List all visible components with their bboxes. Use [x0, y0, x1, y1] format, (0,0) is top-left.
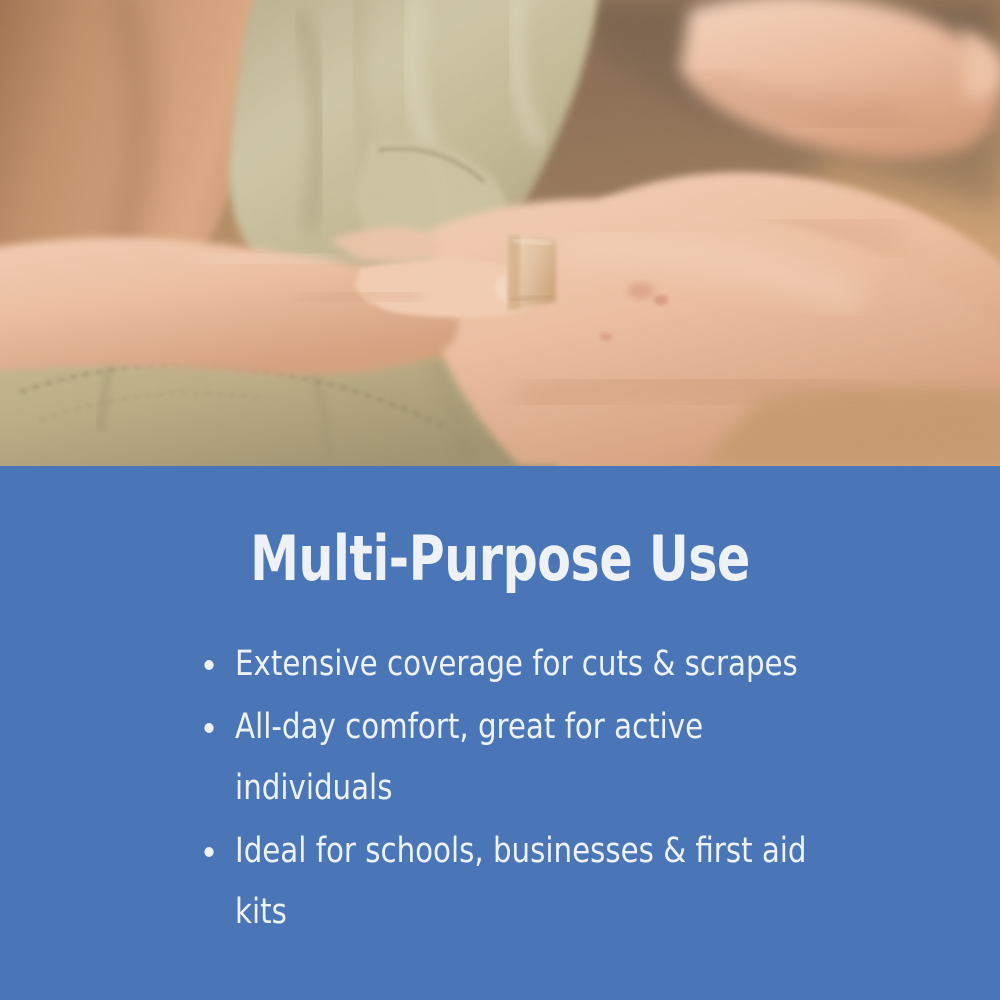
feature-panel: Multi-Purpose Use Extensive coverage for…	[0, 466, 1000, 1000]
product-feature-card: Multi-Purpose Use Extensive coverage for…	[0, 0, 1000, 1000]
photo-illustration	[0, 0, 1000, 466]
list-item-label: All-day comfort, great for active indivi…	[235, 697, 830, 819]
bullet-dot-icon	[204, 660, 213, 670]
list-item: Extensive coverage for cuts & scrapes	[196, 634, 847, 695]
bullet-dot-icon	[204, 847, 213, 857]
bullet-dot-icon	[204, 723, 213, 733]
list-item-label: Extensive coverage for cuts & scrapes	[235, 634, 830, 695]
page-title: Multi-Purpose Use	[60, 526, 940, 591]
feature-list: Extensive coverage for cuts & scrapes Al…	[196, 634, 896, 945]
list-item: Ideal for schools, businesses & first ai…	[196, 821, 847, 943]
list-item: All-day comfort, great for active indivi…	[196, 697, 847, 819]
list-item-label: Ideal for schools, businesses & first ai…	[235, 821, 830, 943]
product-photo	[0, 0, 1000, 466]
